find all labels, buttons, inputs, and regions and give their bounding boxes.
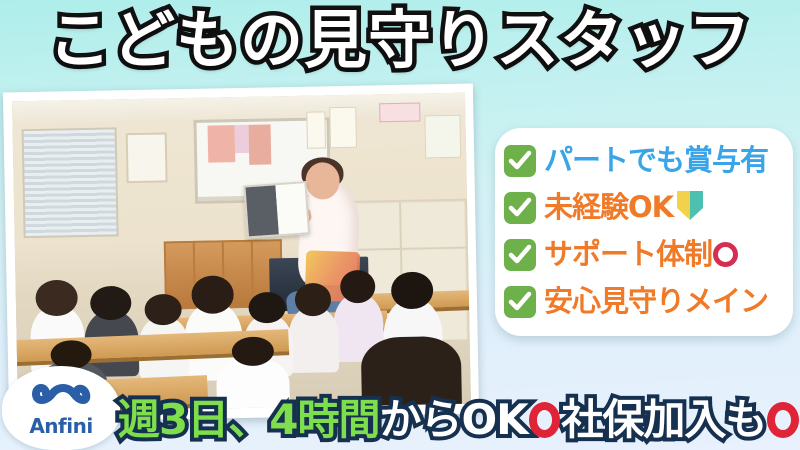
benefit-label-wrap: 未経験OK [544,189,705,227]
classroom-photo-image: GOS DAYS [12,93,471,413]
list-item: サポート体制 [504,231,789,278]
company-logo: Anfini [2,366,120,450]
wall-paper-3 [379,103,420,122]
condition-days-hours: 週3日、4時間 [118,399,379,441]
logo-text: Anfini [29,414,92,438]
infinity-icon [30,379,92,413]
condition-ok-text: からOK [379,399,527,441]
benefit-label: サポート体制 [544,237,712,271]
wall-notice-pink [235,125,249,153]
beginner-mark-icon [675,189,705,227]
picture-book [243,181,310,238]
wall-poster [126,133,168,184]
check-icon [504,286,536,318]
page-title: こどもの見守りスタッフ [0,4,800,77]
window-blinds [22,127,119,238]
list-item: 安心見守りメイン [504,278,789,325]
benefits-list: パートでも賞与有 未経験OK サポート体制 安心見守りメイン [504,137,789,325]
condition-insurance-text: 社保加入も [561,399,766,441]
red-circle-icon [767,402,799,438]
wall-notice-red-2 [248,124,271,165]
benefit-label-wrap: サポート体制 [544,240,738,269]
red-circle-icon [529,402,561,438]
benefit-label: 未経験OK [544,190,673,224]
check-icon [504,239,536,271]
wall-notice-red [207,125,235,163]
red-circle-icon [713,242,738,267]
wall-paper-2 [329,107,357,148]
benefit-label: パートでも賞与有 [544,146,768,175]
job-ad-banner: GOS DAYS こどもの見守りスタッフ パートでも賞与有 未経験OK [0,0,800,450]
benefit-label: 安心見守りメイン [544,287,768,316]
child [288,307,339,373]
check-icon [504,145,536,177]
check-icon [504,192,536,224]
wall-paper-4 [425,115,462,159]
list-item: パートでも賞与有 [504,137,789,184]
list-item: 未経験OK [504,184,789,231]
benefits-card: パートでも賞与有 未経験OK サポート体制 安心見守りメイン [495,128,793,336]
wall-paper-1 [307,111,326,149]
conditions-strip: 週3日、4時間 からOK 社保加入も [118,392,800,448]
